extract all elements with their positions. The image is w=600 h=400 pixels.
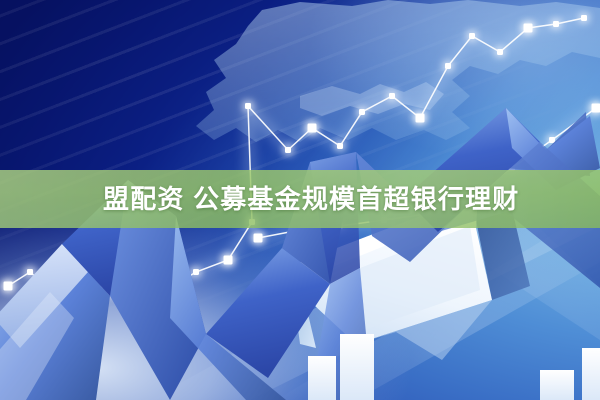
bar xyxy=(308,356,336,400)
bar xyxy=(540,370,574,400)
banner-title: 盟配资 公募基金规模首超银行理财 xyxy=(103,186,519,212)
banner-image: -50.02-02.36-11.2545.0221.068.14-02.36-1… xyxy=(0,0,600,400)
bar-group xyxy=(308,334,600,400)
bar xyxy=(582,348,600,400)
title-band: 盟配资 公募基金规模首超银行理财 xyxy=(0,170,600,228)
bar xyxy=(340,334,374,400)
